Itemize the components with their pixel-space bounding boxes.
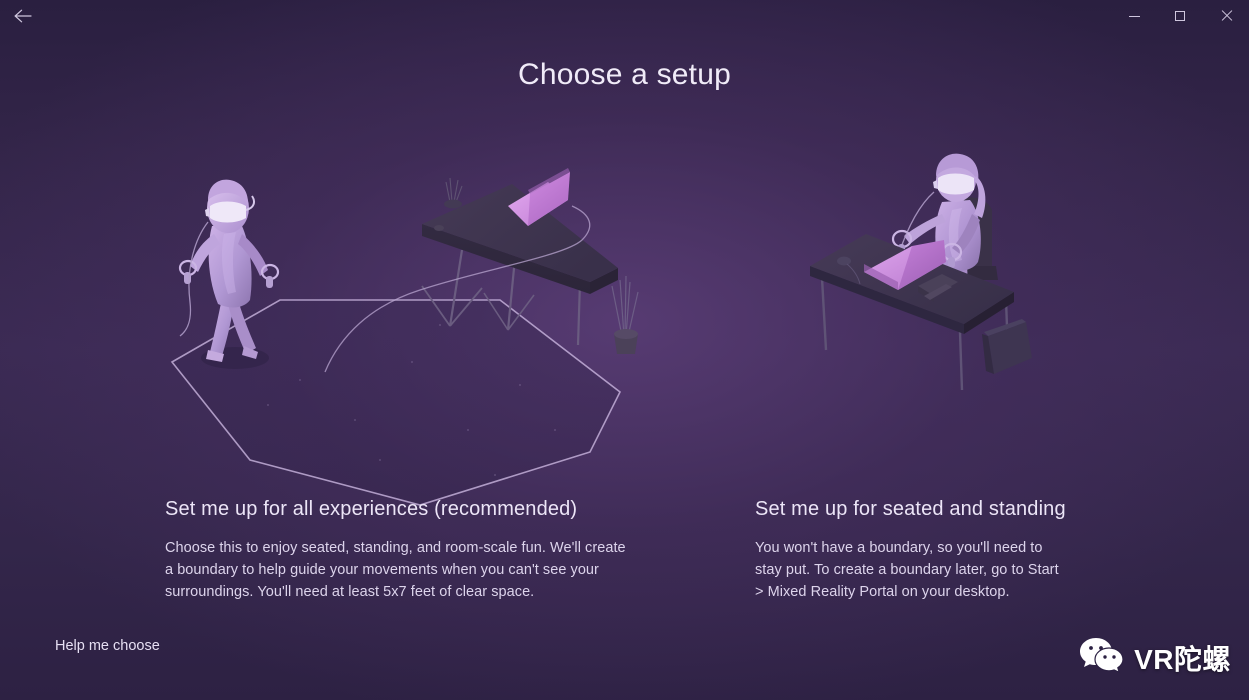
room-scale-vr-user-with-boundary-illustration	[150, 130, 650, 510]
maximize-button[interactable]	[1157, 0, 1203, 32]
help-me-choose-link[interactable]: Help me choose	[55, 638, 160, 654]
watermark-text: VR陀螺	[1134, 638, 1231, 678]
back-button[interactable]	[0, 0, 46, 32]
minimize-icon	[1129, 16, 1140, 17]
minimize-button[interactable]	[1111, 0, 1157, 32]
option-description-all-experiences: Choose this to enjoy seated, standing, a…	[165, 537, 635, 603]
option-description-seated-standing: You won't have a boundary, so you'll nee…	[755, 537, 1065, 603]
wechat-logo-icon	[1079, 635, 1125, 680]
page-title: Choose a setup	[0, 58, 1249, 92]
maximize-icon	[1175, 11, 1185, 21]
plant	[612, 276, 638, 354]
window-controls	[1111, 0, 1249, 32]
pc-tower	[982, 319, 1032, 374]
close-icon	[1220, 10, 1232, 22]
watermark: VR陀螺	[1079, 635, 1231, 680]
mouse	[434, 225, 444, 231]
setup-options: Set me up for all experiences (recommend…	[0, 498, 1249, 603]
arrow-left-icon	[13, 8, 33, 24]
option-title-seated-standing: Set me up for seated and standing	[755, 498, 1065, 521]
title-bar	[0, 0, 1249, 32]
mixed-reality-setup-window: Choose a setup	[0, 0, 1249, 700]
seated-vr-user-at-desk-illustration	[800, 140, 1090, 400]
option-seated-standing[interactable]: Set me up for seated and standing You wo…	[755, 498, 1095, 603]
mouse-seated	[837, 257, 851, 266]
option-all-experiences[interactable]: Set me up for all experiences (recommend…	[165, 498, 665, 603]
vr-controller-right	[262, 265, 278, 288]
pen-cup	[444, 178, 462, 209]
vr-controller-left	[180, 261, 196, 284]
option-title-all-experiences: Set me up for all experiences (recommend…	[165, 498, 635, 521]
close-button[interactable]	[1203, 0, 1249, 32]
